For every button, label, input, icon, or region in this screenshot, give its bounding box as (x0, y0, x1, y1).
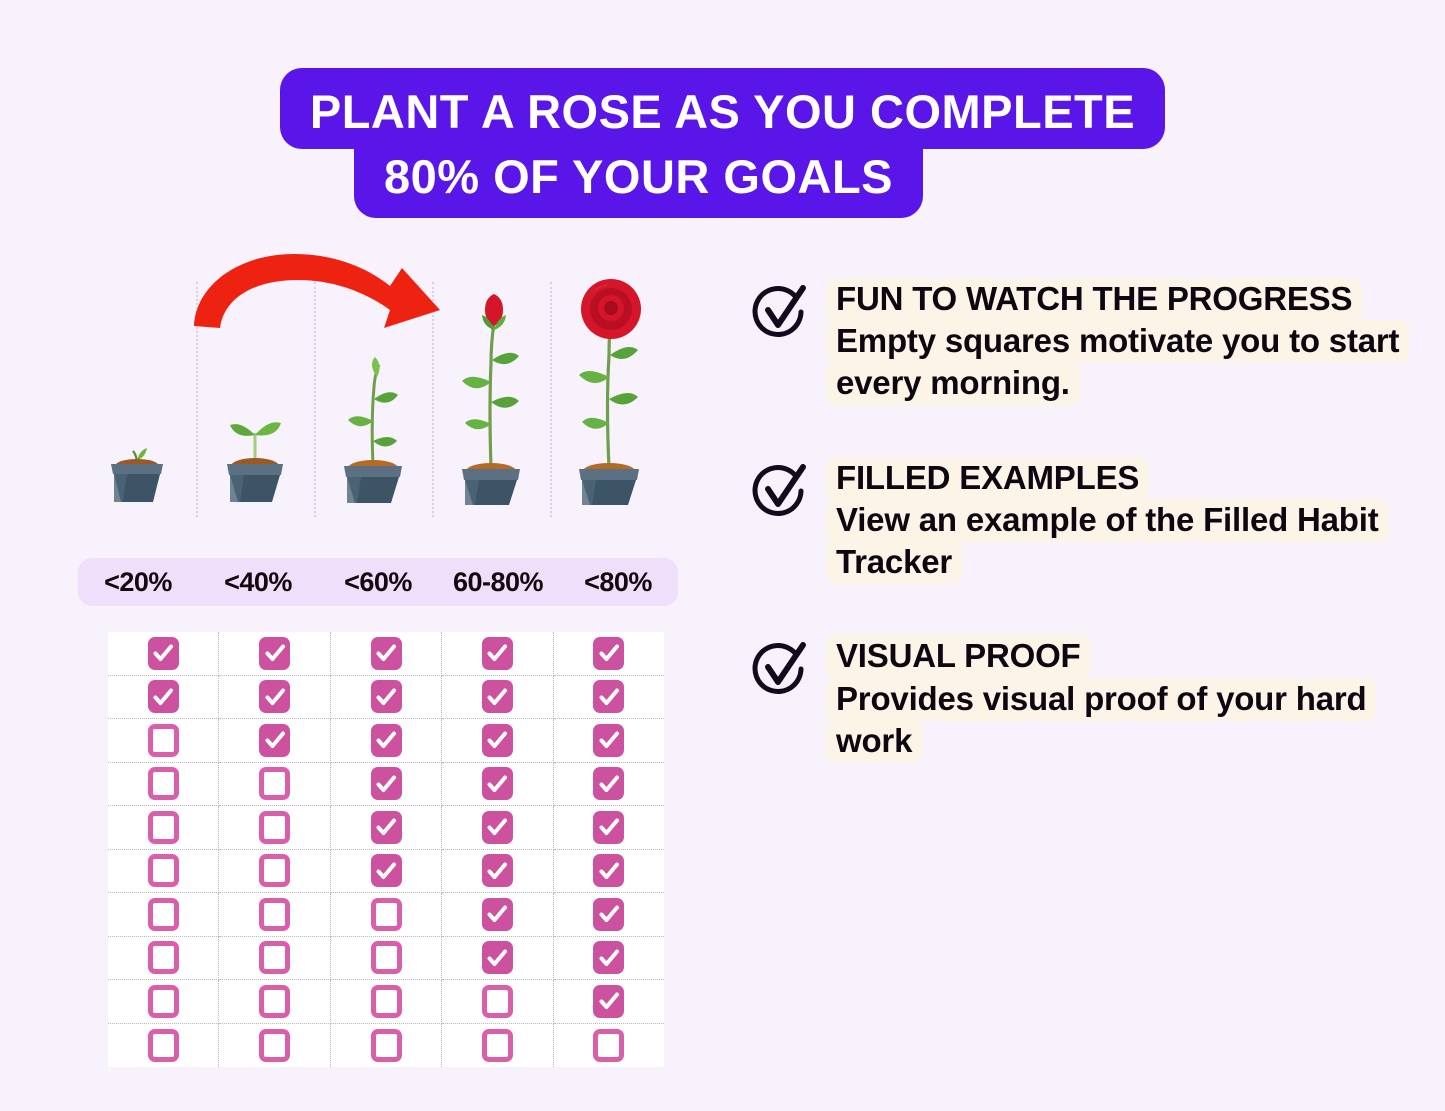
checkbox-checked[interactable] (371, 724, 402, 757)
habit-grid-cell[interactable] (442, 632, 553, 676)
habit-grid-cell[interactable] (108, 806, 219, 850)
checkbox-unchecked[interactable] (259, 985, 290, 1018)
leafy-stem-icon (327, 325, 419, 505)
checkbox-unchecked[interactable] (259, 854, 290, 887)
blooming-rose-icon (560, 275, 658, 505)
habit-grid-cell[interactable] (108, 1024, 219, 1068)
check-mark-icon (375, 642, 397, 664)
feature-heading: VISUAL PROOF (826, 635, 1438, 677)
check-mark-icon (598, 903, 620, 925)
check-mark-icon (264, 729, 286, 751)
habit-grid-cell[interactable] (108, 893, 219, 937)
checkbox-checked[interactable] (593, 898, 624, 931)
habit-grid-cell[interactable] (108, 937, 219, 981)
feature-body: View an example of the Filled Habit Trac… (826, 499, 1438, 583)
habit-grid-cell[interactable] (442, 937, 553, 981)
checkbox-unchecked[interactable] (148, 985, 179, 1018)
habit-grid-cell[interactable] (554, 676, 664, 720)
checkbox-checked[interactable] (482, 811, 513, 844)
checkbox-unchecked[interactable] (482, 985, 513, 1018)
habit-grid-cell[interactable] (219, 980, 330, 1024)
feature-body-text: View an example of the Filled Habit Trac… (826, 499, 1389, 584)
habit-grid-cell[interactable] (331, 719, 442, 763)
habit-grid-cell[interactable] (554, 1024, 664, 1068)
habit-grid-cell[interactable] (219, 676, 330, 720)
title-line-2: 80% OF YOUR GOALS (354, 143, 923, 218)
check-mark-icon (375, 816, 397, 838)
checkbox-unchecked[interactable] (593, 1029, 624, 1062)
feature-text: VISUAL PROOFProvides visual proof of you… (826, 635, 1438, 762)
checkbox-unchecked[interactable] (259, 1029, 290, 1062)
feature-heading-text: FILLED EXAMPLES (826, 457, 1149, 500)
check-mark-icon (152, 642, 174, 664)
habit-grid-cell[interactable] (331, 763, 442, 807)
feature-item: FUN TO WATCH THE PROGRESSEmpty squares m… (748, 278, 1438, 405)
check-mark-icon (598, 686, 620, 708)
check-mark-icon (486, 729, 508, 751)
checkbox-checked[interactable] (593, 637, 624, 670)
plant-stage-2 (196, 375, 314, 505)
habit-grid-cell[interactable] (331, 806, 442, 850)
feature-body: Empty squares motivate you to start ever… (826, 320, 1438, 404)
checkbox-checked[interactable] (593, 854, 624, 887)
feature-heading: FUN TO WATCH THE PROGRESS (826, 278, 1438, 320)
budding-rose-icon (445, 290, 537, 505)
checkbox-checked[interactable] (482, 898, 513, 931)
habit-grid-cell[interactable] (331, 937, 442, 981)
check-circle-icon (748, 461, 810, 523)
check-mark-icon (486, 686, 508, 708)
plant-stage-1 (78, 400, 196, 505)
checkbox-unchecked[interactable] (148, 767, 179, 800)
habit-grid-cell[interactable] (219, 1024, 330, 1068)
habit-grid-cell[interactable] (108, 676, 219, 720)
check-mark-icon (486, 860, 508, 882)
checkbox-checked[interactable] (371, 637, 402, 670)
habit-grid-cell[interactable] (442, 763, 553, 807)
habit-grid-row (108, 893, 664, 937)
check-circle-icon (748, 282, 810, 344)
habit-checkbox-grid[interactable] (108, 632, 664, 1067)
habit-grid-cell[interactable] (442, 980, 553, 1024)
check-circle-icon (748, 461, 810, 523)
check-mark-icon (486, 773, 508, 795)
habit-grid-cell[interactable] (554, 893, 664, 937)
checkbox-checked[interactable] (482, 854, 513, 887)
checkbox-unchecked[interactable] (148, 941, 179, 974)
checkbox-unchecked[interactable] (148, 1029, 179, 1062)
habit-grid-row (108, 1024, 664, 1068)
checkbox-unchecked[interactable] (371, 941, 402, 974)
habit-grid-cell[interactable] (108, 850, 219, 894)
habit-grid-cell[interactable] (219, 719, 330, 763)
habit-grid-cell[interactable] (442, 806, 553, 850)
percent-label-2: <40% (198, 567, 318, 598)
checkbox-checked[interactable] (482, 941, 513, 974)
check-mark-icon (486, 903, 508, 925)
seedling-sprout-icon (91, 400, 183, 505)
habit-grid-cell[interactable] (108, 719, 219, 763)
feature-list: FUN TO WATCH THE PROGRESSEmpty squares m… (748, 278, 1438, 814)
habit-grid-cell[interactable] (554, 763, 664, 807)
habit-grid-row (108, 850, 664, 894)
checkbox-checked[interactable] (148, 637, 179, 670)
title-line-1: PLANT A ROSE AS YOU COMPLETE (280, 68, 1165, 149)
feature-body: Provides visual proof of your hard work (826, 678, 1438, 762)
habit-grid-cell[interactable] (108, 632, 219, 676)
checkbox-unchecked[interactable] (259, 811, 290, 844)
feature-body-text: Provides visual proof of your hard work (826, 678, 1376, 763)
habit-grid-cell[interactable] (331, 1024, 442, 1068)
check-mark-icon (375, 686, 397, 708)
checkbox-checked[interactable] (259, 680, 290, 713)
plant-growth-stages (78, 240, 678, 515)
habit-grid-cell[interactable] (331, 632, 442, 676)
feature-heading-text: VISUAL PROOF (826, 635, 1091, 678)
habit-grid-cell[interactable] (554, 937, 664, 981)
checkbox-checked[interactable] (593, 767, 624, 800)
check-circle-icon (748, 282, 810, 344)
checkbox-checked[interactable] (482, 680, 513, 713)
check-mark-icon (486, 642, 508, 664)
checkbox-checked[interactable] (482, 767, 513, 800)
habit-grid-cell[interactable] (219, 632, 330, 676)
check-mark-icon (486, 816, 508, 838)
checkbox-unchecked[interactable] (148, 724, 179, 757)
habit-grid-cell[interactable] (219, 763, 330, 807)
curved-arrow-right-icon (190, 248, 450, 343)
feature-heading: FILLED EXAMPLES (826, 457, 1438, 499)
feature-text: FILLED EXAMPLESView an example of the Fi… (826, 457, 1438, 584)
habit-grid-cell[interactable] (554, 850, 664, 894)
checkbox-checked[interactable] (371, 854, 402, 887)
check-mark-icon (375, 773, 397, 795)
checkbox-checked[interactable] (593, 811, 624, 844)
plant-stage-5 (550, 275, 668, 505)
habit-grid-cell[interactable] (554, 980, 664, 1024)
habit-grid-row (108, 632, 664, 676)
checkbox-checked[interactable] (482, 637, 513, 670)
checkbox-unchecked[interactable] (148, 811, 179, 844)
habit-grid-cell[interactable] (554, 632, 664, 676)
habit-grid-cell[interactable] (331, 980, 442, 1024)
check-mark-icon (375, 860, 397, 882)
feature-heading-text: FUN TO WATCH THE PROGRESS (826, 278, 1362, 321)
habit-grid-cell[interactable] (442, 676, 553, 720)
percent-label-bar: <20% <40% <60% 60-80% <80% (78, 558, 678, 606)
habit-grid-cell[interactable] (442, 1024, 553, 1068)
check-mark-icon (486, 947, 508, 969)
percent-label-4: 60-80% (438, 567, 558, 598)
habit-grid-row (108, 676, 664, 720)
checkbox-checked[interactable] (371, 680, 402, 713)
check-mark-icon (598, 990, 620, 1012)
percent-label-5: <80% (558, 567, 678, 598)
habit-grid-cell[interactable] (554, 719, 664, 763)
habit-grid-row (108, 719, 664, 763)
habit-grid-cell[interactable] (108, 763, 219, 807)
percent-label-1: <20% (78, 567, 198, 598)
habit-grid-cell[interactable] (331, 676, 442, 720)
check-mark-icon (598, 642, 620, 664)
check-mark-icon (598, 773, 620, 795)
checkbox-unchecked[interactable] (482, 1029, 513, 1062)
checkbox-unchecked[interactable] (371, 898, 402, 931)
check-circle-icon (748, 639, 810, 701)
checkbox-checked[interactable] (593, 680, 624, 713)
feature-body-text: Empty squares motivate you to start ever… (826, 320, 1409, 405)
habit-grid-cell[interactable] (331, 850, 442, 894)
check-mark-icon (264, 686, 286, 708)
checkbox-unchecked[interactable] (371, 1029, 402, 1062)
checkbox-checked[interactable] (259, 724, 290, 757)
young-sprout-icon (209, 375, 301, 505)
checkbox-checked[interactable] (593, 941, 624, 974)
checkbox-unchecked[interactable] (259, 767, 290, 800)
checkbox-checked[interactable] (371, 767, 402, 800)
habit-grid-cell[interactable] (219, 806, 330, 850)
check-mark-icon (264, 642, 286, 664)
check-mark-icon (598, 860, 620, 882)
checkbox-checked[interactable] (371, 811, 402, 844)
habit-grid-cell[interactable] (219, 893, 330, 937)
title-banner: PLANT A ROSE AS YOU COMPLETE 80% OF YOUR… (0, 68, 1445, 218)
checkbox-unchecked[interactable] (259, 941, 290, 974)
habit-grid-cell[interactable] (108, 980, 219, 1024)
checkbox-checked[interactable] (593, 985, 624, 1018)
habit-grid-cell[interactable] (219, 850, 330, 894)
checkbox-unchecked[interactable] (148, 898, 179, 931)
habit-grid-cell[interactable] (442, 850, 553, 894)
checkbox-checked[interactable] (259, 637, 290, 670)
checkbox-checked[interactable] (482, 724, 513, 757)
habit-grid-row (108, 980, 664, 1024)
feature-text: FUN TO WATCH THE PROGRESSEmpty squares m… (826, 278, 1438, 405)
check-mark-icon (375, 729, 397, 751)
habit-grid-cell[interactable] (442, 719, 553, 763)
checkbox-unchecked[interactable] (259, 898, 290, 931)
habit-grid-cell[interactable] (554, 806, 664, 850)
habit-grid-row (108, 937, 664, 981)
tracker-preview-panel: <20% <40% <60% 60-80% <80% (0, 240, 720, 515)
check-mark-icon (152, 686, 174, 708)
check-circle-icon (748, 639, 810, 701)
feature-item: VISUAL PROOFProvides visual proof of you… (748, 635, 1438, 762)
habit-grid-row (108, 763, 664, 807)
percent-label-3: <60% (318, 567, 438, 598)
check-mark-icon (598, 729, 620, 751)
checkbox-checked[interactable] (148, 680, 179, 713)
habit-grid-row (108, 806, 664, 850)
habit-grid-cell[interactable] (331, 893, 442, 937)
checkbox-unchecked[interactable] (371, 985, 402, 1018)
check-mark-icon (598, 947, 620, 969)
habit-grid-cell[interactable] (219, 937, 330, 981)
checkbox-unchecked[interactable] (148, 854, 179, 887)
feature-item: FILLED EXAMPLESView an example of the Fi… (748, 457, 1438, 584)
check-mark-icon (598, 816, 620, 838)
checkbox-checked[interactable] (593, 724, 624, 757)
plant-stage-3 (314, 325, 432, 505)
habit-grid-cell[interactable] (442, 893, 553, 937)
